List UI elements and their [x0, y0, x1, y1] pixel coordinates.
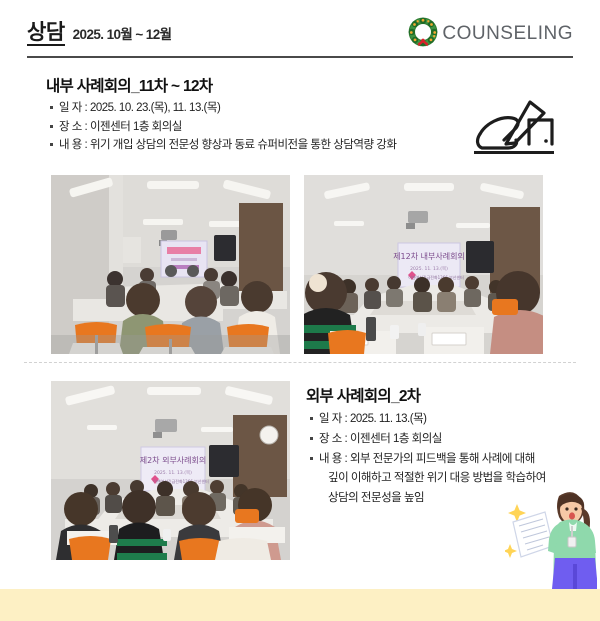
header-divider	[27, 56, 573, 58]
bullet-label: 장 소 :	[319, 433, 347, 445]
svg-text:2025. 11. 13.(목): 2025. 11. 13.(목)	[410, 266, 448, 272]
photo-row-divider	[24, 362, 576, 363]
bullet-label: 내 용 :	[319, 453, 347, 465]
square-bullet-icon	[310, 437, 313, 440]
list-item: 장 소 : 이젠센터 1층 회의실	[50, 118, 480, 137]
header-brand-group: COUNSELING	[406, 16, 573, 50]
list-item: 일 자 : 2025. 10. 23.(목), 11. 13.(목)	[50, 99, 480, 118]
section-1-bullet-list: 일 자 : 2025. 10. 23.(목), 11. 13.(목) 장 소 :…	[50, 99, 480, 155]
square-bullet-icon	[310, 457, 313, 460]
bullet-value: 위기 개입 상담의 전문성 향상과 동료 슈퍼비전을 통한 상담역량 강화	[90, 139, 397, 151]
section-2-heading: 외부 사례회의_2차	[306, 384, 420, 406]
svg-text:이젠여성긴급전화1366 부산센터: 이젠여성긴급전화1366 부산센터	[408, 274, 464, 280]
page-header: 상담 2025. 10월 ~ 12월	[0, 0, 600, 60]
bullet-label: 내 용 :	[59, 139, 87, 151]
internal-case-meeting-photo-2: 제12차 내부사례회의 2025. 11. 13.(목) 이젠여성긴급전화136…	[304, 175, 543, 354]
header-left-group: 상담 2025. 10월 ~ 12월	[27, 22, 171, 46]
svg-text:2025. 11. 13.(목): 2025. 11. 13.(목)	[154, 470, 192, 476]
page-title: 상담	[27, 22, 65, 46]
internal-case-meeting-photo-1	[51, 175, 290, 354]
list-item: 내 용 : 위기 개입 상담의 전문성 향상과 동료 슈퍼비전을 통한 상담역량…	[50, 136, 480, 155]
slide-page: 상담 2025. 10월 ~ 12월	[0, 0, 600, 621]
list-item: 일 자 : 2025. 11. 13.(목)	[310, 410, 568, 430]
list-item: 장 소 : 이젠센터 1층 회의실	[310, 430, 568, 450]
square-bullet-icon	[50, 143, 53, 146]
section-1-heading: 내부 사례회의_11차 ~ 12차	[46, 74, 212, 96]
square-bullet-icon	[50, 125, 53, 128]
bullet-value: 2025. 10. 23.(목), 11. 13.(목)	[90, 102, 220, 114]
square-bullet-icon	[310, 417, 313, 420]
bullet-value: 외부 전문가의 피드백을 통해 사례에 대해	[350, 453, 535, 465]
christmas-wreath-icon	[406, 16, 440, 50]
svg-text:제2차 외부사례회의: 제2차 외부사례회의	[140, 455, 207, 465]
bullet-value: 이젠센터 1층 회의실	[90, 121, 182, 133]
square-bullet-icon	[50, 106, 53, 109]
brand-label: COUNSELING	[442, 24, 573, 43]
footer-band	[0, 589, 600, 621]
bullet-label: 장 소 :	[59, 121, 87, 133]
header-period: 2025. 10월 ~ 12월	[73, 28, 172, 42]
svg-text:제12차 내부사례회의: 제12차 내부사례회의	[393, 251, 465, 261]
bullet-value: 이젠센터 1층 회의실	[350, 433, 442, 445]
bullet-label: 일 자 :	[59, 102, 87, 114]
external-case-meeting-photo-1: 제2차 외부사례회의 2025. 11. 13.(목) 이젠여성긴급전화1366…	[51, 381, 290, 560]
bullet-value: 2025. 11. 13.(목)	[350, 413, 427, 425]
bullet-label: 일 자 :	[319, 413, 347, 425]
